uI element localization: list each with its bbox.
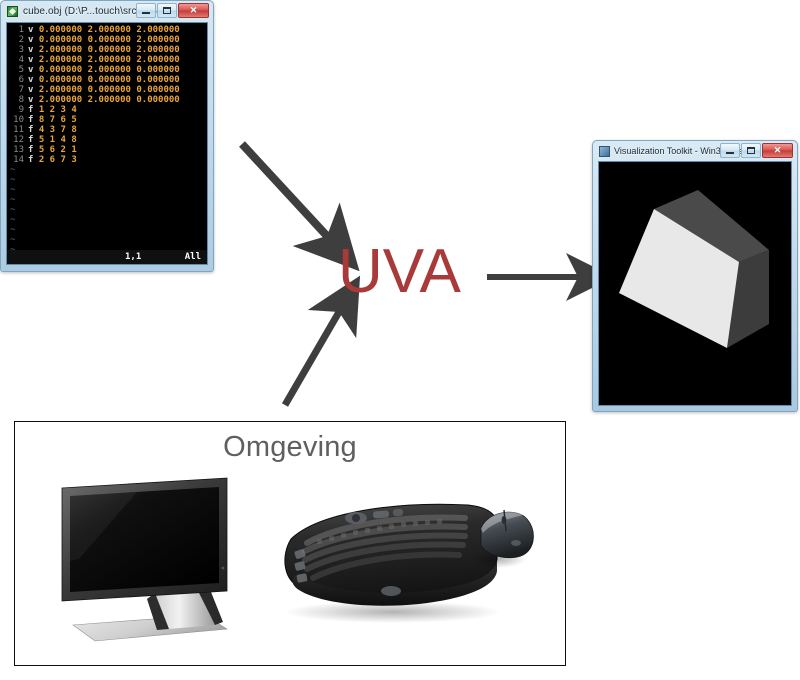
empty-line-marker: ~ <box>7 185 207 195</box>
minimize-button[interactable] <box>720 143 740 158</box>
code-line: 12f 5 1 4 8 <box>7 135 207 145</box>
obj-values: 0.000000 2.000000 0.000000 <box>39 65 180 75</box>
monitor-image <box>37 475 252 647</box>
uva-label: UVA <box>338 241 461 303</box>
minimize-button[interactable] <box>136 3 156 18</box>
maximize-icon <box>163 7 171 14</box>
line-number: 6 <box>10 75 24 85</box>
line-number: 9 <box>10 105 24 115</box>
code-line: 11f 4 3 7 8 <box>7 125 207 135</box>
empty-line-marker: ~ <box>7 225 207 235</box>
maximize-button[interactable] <box>157 3 177 18</box>
obj-values: 2.000000 2.000000 2.000000 <box>39 55 180 65</box>
obj-keyword: f <box>28 135 39 145</box>
code-line: 9f 1 2 3 4 <box>7 105 207 115</box>
close-icon: ✕ <box>774 146 782 155</box>
code-line: 10f 8 7 6 5 <box>7 115 207 125</box>
gvim-titlebar[interactable]: cube.obj (D:\P...touch\src) - GVIM ✕ <box>4 3 210 20</box>
minimize-icon <box>726 152 734 154</box>
code-line: 3v 2.000000 0.000000 2.000000 <box>7 45 207 55</box>
gvim-window-controls[interactable]: ✕ <box>136 3 209 18</box>
line-number: 2 <box>10 35 24 45</box>
keyboard-mouse-image <box>273 487 548 632</box>
obj-keyword: v <box>28 35 39 45</box>
code-line: 2v 0.000000 0.000000 2.000000 <box>7 35 207 45</box>
code-line: 5v 0.000000 2.000000 0.000000 <box>7 65 207 75</box>
line-number: 3 <box>10 45 24 55</box>
vtk-app-icon <box>599 146 610 157</box>
empty-line-marker: ~ <box>7 235 207 245</box>
line-number: 11 <box>10 125 24 135</box>
code-line: 7v 2.000000 0.000000 0.000000 <box>7 85 207 95</box>
line-number: 4 <box>10 55 24 65</box>
cursor-position: 1,1 <box>125 252 141 262</box>
obj-keyword: f <box>28 105 39 115</box>
obj-values: 0.000000 0.000000 2.000000 <box>39 35 180 45</box>
code-line: 14f 2 6 7 3 <box>7 155 207 165</box>
empty-line-marker: ~ <box>7 195 207 205</box>
vtk-window[interactable]: Visualization Toolkit - Win32Open... ✕ <box>592 140 798 412</box>
gvim-window[interactable]: cube.obj (D:\P...touch\src) - GVIM ✕ 1v … <box>0 0 214 272</box>
empty-line-marker: ~ <box>7 215 207 225</box>
obj-keyword: v <box>28 65 39 75</box>
line-number: 10 <box>10 115 24 125</box>
obj-keyword: f <box>28 145 39 155</box>
obj-values: 2.000000 0.000000 0.000000 <box>39 85 180 95</box>
close-button[interactable]: ✕ <box>178 3 209 18</box>
code-line: 8v 2.000000 2.000000 0.000000 <box>7 95 207 105</box>
code-line: 1v 0.000000 2.000000 2.000000 <box>7 25 207 35</box>
obj-keyword: v <box>28 85 39 95</box>
gvim-text-buffer[interactable]: 1v 0.000000 2.000000 2.0000002v 0.000000… <box>7 23 207 250</box>
arrow-omgeving-to-uva <box>285 312 339 405</box>
line-number: 7 <box>10 85 24 95</box>
obj-keyword: v <box>28 95 39 105</box>
maximize-button[interactable] <box>741 143 761 158</box>
vtk-render-view[interactable] <box>598 161 792 406</box>
gvim-status-bar: 1,1 All <box>7 250 207 264</box>
obj-values: 0.000000 2.000000 2.000000 <box>39 25 180 35</box>
cube-3d-render <box>599 162 792 406</box>
empty-line-marker: ~ <box>7 175 207 185</box>
empty-line-marker: ~ <box>7 205 207 215</box>
omgeving-title: Omgeving <box>15 431 565 464</box>
obj-values: 1 2 3 4 <box>39 105 77 115</box>
obj-values: 5 1 4 8 <box>39 135 77 145</box>
code-line: 6v 0.000000 0.000000 0.000000 <box>7 75 207 85</box>
obj-values: 2.000000 0.000000 2.000000 <box>39 45 180 55</box>
gvim-client-area[interactable]: 1v 0.000000 2.000000 2.0000002v 0.000000… <box>6 22 208 265</box>
close-icon: ✕ <box>190 6 198 15</box>
obj-values: 2 6 7 3 <box>39 155 77 165</box>
gvim-logo-icon <box>6 5 19 18</box>
obj-keyword: v <box>28 45 39 55</box>
line-number: 5 <box>10 65 24 75</box>
close-button[interactable]: ✕ <box>762 143 793 158</box>
omgeving-panel: Omgeving <box>14 421 566 666</box>
obj-keyword: f <box>28 155 39 165</box>
vtk-titlebar[interactable]: Visualization Toolkit - Win32Open... ✕ <box>596 143 794 159</box>
maximize-icon <box>747 147 755 154</box>
line-number: 8 <box>10 95 24 105</box>
code-line: 4v 2.000000 2.000000 2.000000 <box>7 55 207 65</box>
obj-keyword: v <box>28 55 39 65</box>
code-line: 13f 5 6 2 1 <box>7 145 207 155</box>
arrow-obj-to-uva <box>242 144 327 236</box>
obj-values: 5 6 2 1 <box>39 145 77 155</box>
empty-line-marker: ~ <box>7 165 207 175</box>
obj-values: 4 3 7 8 <box>39 125 77 135</box>
minimize-icon <box>142 12 150 14</box>
obj-values: 0.000000 0.000000 0.000000 <box>39 75 180 85</box>
obj-values: 8 7 6 5 <box>39 115 77 125</box>
line-number: 12 <box>10 135 24 145</box>
obj-keyword: v <box>28 75 39 85</box>
scroll-indicator: All <box>185 252 201 262</box>
vtk-window-controls[interactable]: ✕ <box>720 143 793 158</box>
line-number: 13 <box>10 145 24 155</box>
line-number: 1 <box>10 25 24 35</box>
obj-keyword: f <box>28 125 39 135</box>
obj-keyword: v <box>28 25 39 35</box>
obj-keyword: f <box>28 115 39 125</box>
obj-values: 2.000000 2.000000 0.000000 <box>39 95 180 105</box>
line-number: 14 <box>10 155 24 165</box>
